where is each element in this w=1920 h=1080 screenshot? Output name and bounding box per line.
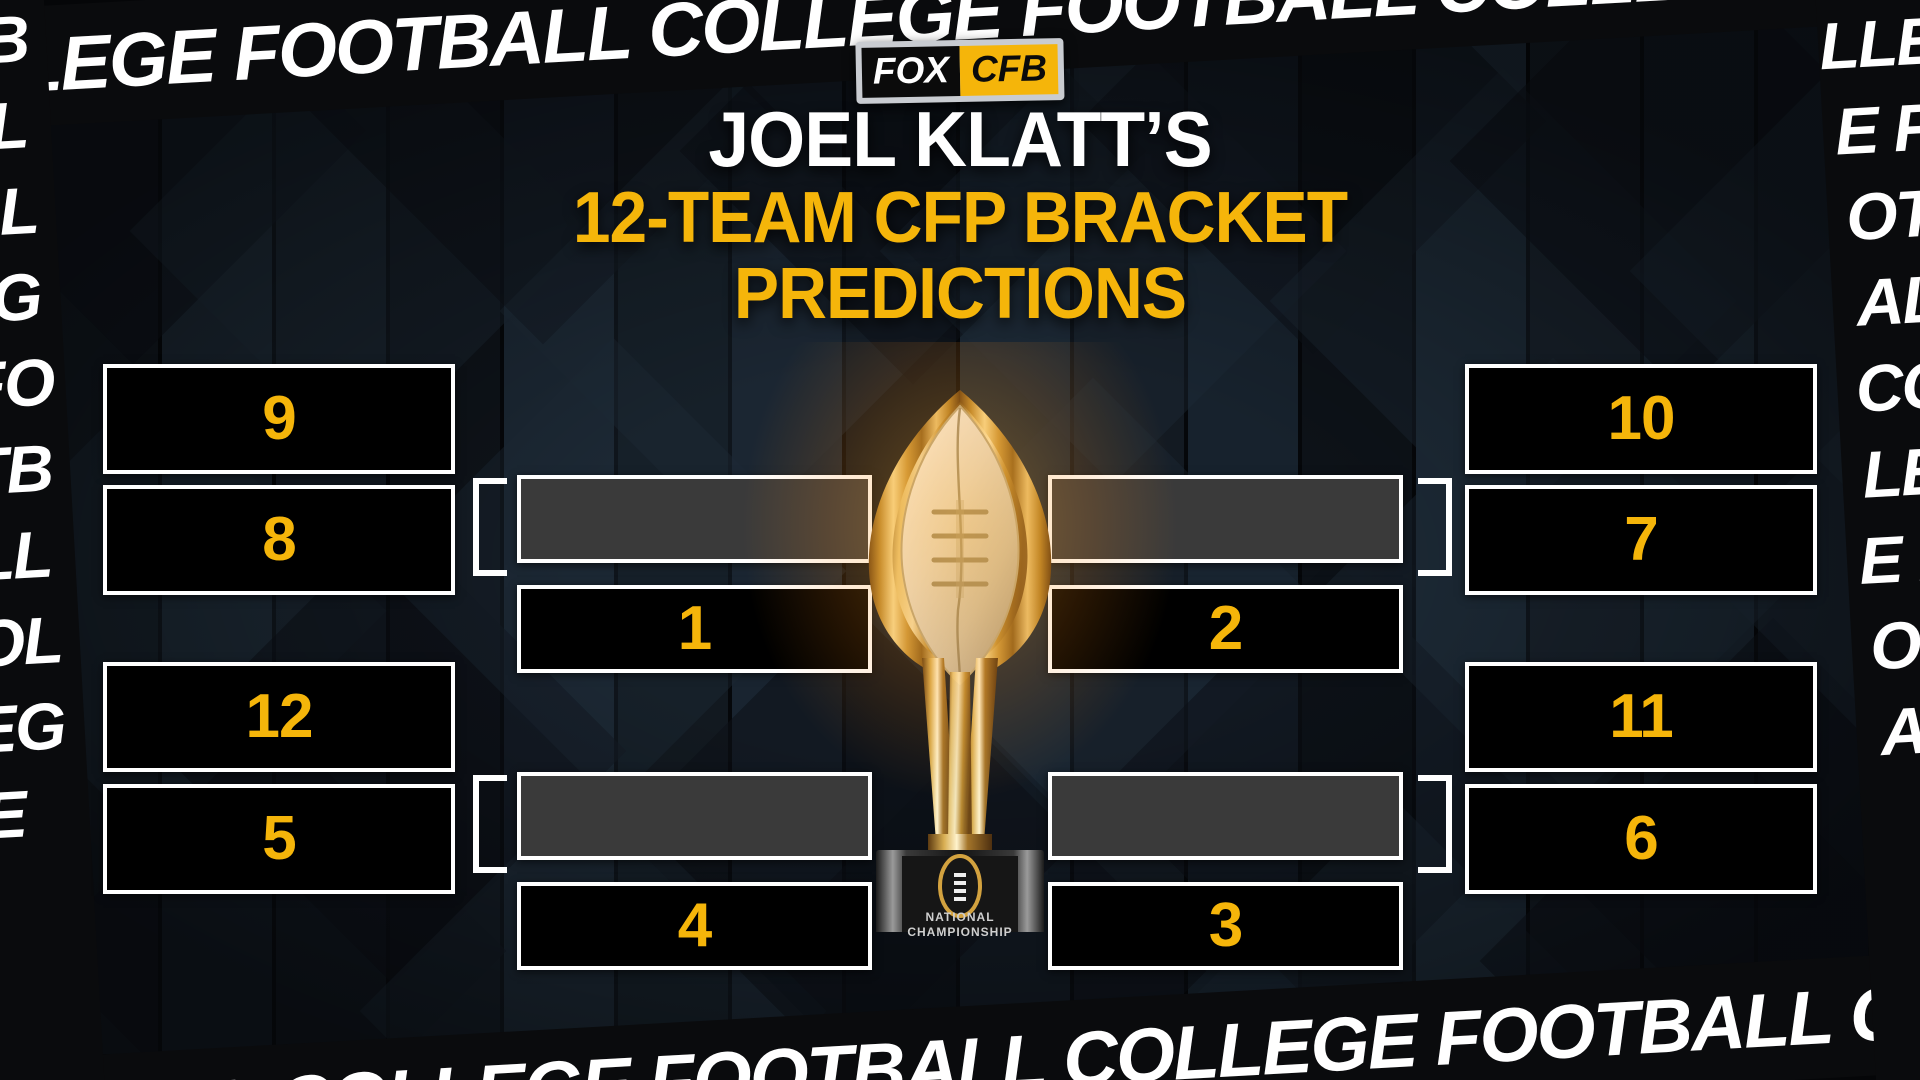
logo-cfb-text: CFB (960, 44, 1059, 96)
seed-number: 3 (1209, 895, 1242, 957)
title-line-3: PREDICTIONS (58, 256, 1863, 332)
logo-fox-text: FOX (861, 46, 960, 98)
bracket-graphic: FOX CFB JOEL KLATT’S 12-TEAM CFP BRACKET… (0, 0, 1920, 1080)
title-block: JOEL KLATT’S 12-TEAM CFP BRACKET PREDICT… (0, 98, 1920, 332)
trophy-svg (810, 372, 1110, 932)
trophy-plaque-line-2: CHAMPIONSHIP (907, 925, 1012, 940)
trophy-plaque-line-1: NATIONAL (925, 910, 994, 925)
seed-10-box[interactable]: 10 (1465, 364, 1817, 474)
seed-number: 2 (1209, 598, 1242, 660)
seed-number: 10 (1608, 388, 1675, 450)
seed-number: 9 (262, 388, 295, 450)
connector-right-top (1418, 478, 1452, 576)
connector-right-bottom (1418, 775, 1452, 873)
seed-number: 5 (262, 808, 295, 870)
seed-9-box[interactable]: 9 (103, 364, 455, 474)
seed-number: 12 (246, 686, 313, 748)
connector-left-top (473, 478, 507, 576)
connector-left-bottom (473, 775, 507, 873)
seed-number: 11 (1609, 686, 1673, 748)
seed-7-box[interactable]: 7 (1465, 485, 1817, 595)
seed-number: 8 (262, 509, 295, 571)
title-line-1: JOEL KLATT’S (58, 98, 1863, 180)
seed-8-box[interactable]: 8 (103, 485, 455, 595)
seed-11-box[interactable]: 11 (1465, 662, 1817, 772)
seed-number: 6 (1624, 808, 1657, 870)
cfp-national-championship-trophy: NATIONAL CHAMPIONSHIP (810, 372, 1110, 937)
seed-12-box[interactable]: 12 (103, 662, 455, 772)
seed-number: 7 (1624, 509, 1657, 571)
seed-number: 4 (678, 895, 711, 957)
seed-number: 1 (678, 598, 711, 660)
seed-5-box[interactable]: 5 (103, 784, 455, 894)
seed-6-box[interactable]: 6 (1465, 784, 1817, 894)
title-line-2: 12-TEAM CFP BRACKET (58, 180, 1863, 256)
